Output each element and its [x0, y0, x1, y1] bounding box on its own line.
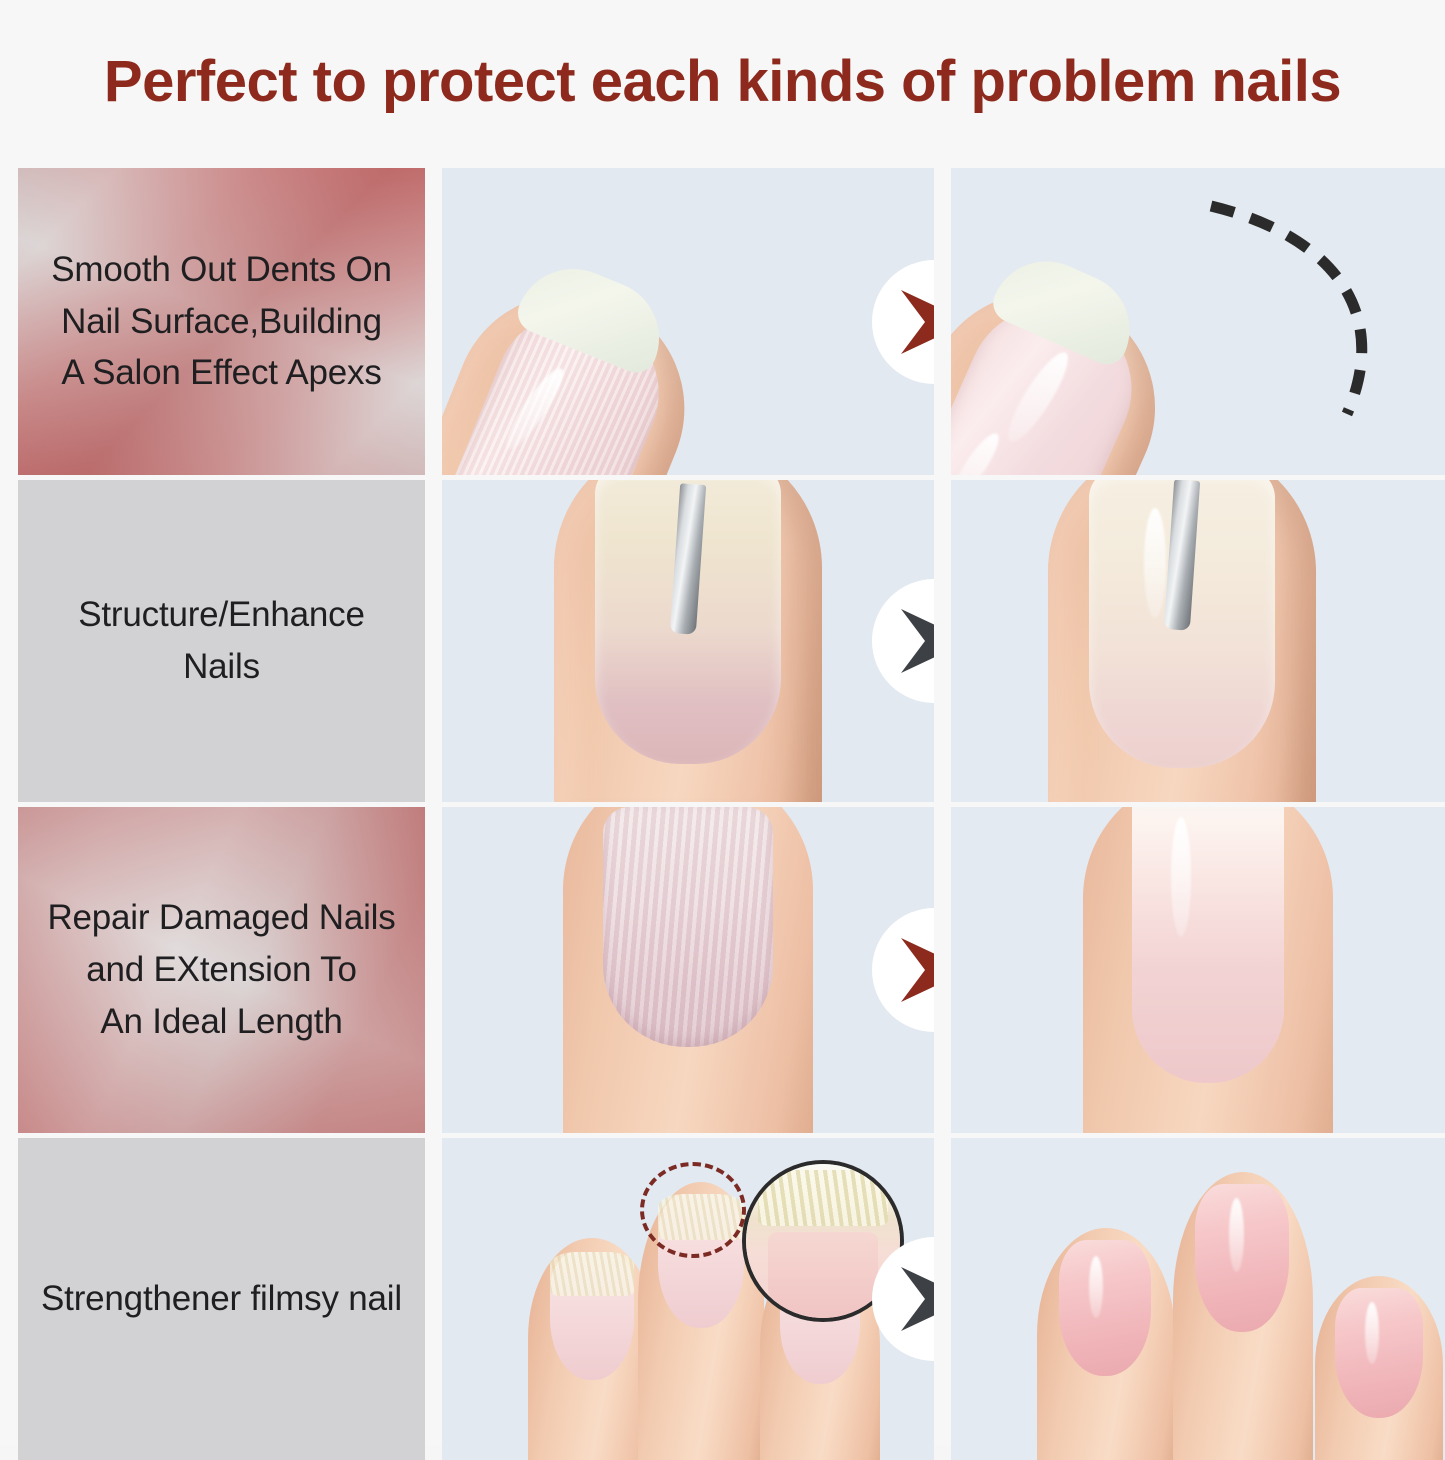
- arrow-right-red-icon: [895, 286, 934, 358]
- after-photo-1: [951, 168, 1445, 475]
- feature-label-cell-4: Strengthener filmsy nail: [18, 1138, 425, 1460]
- nail-plate-damaged: [603, 807, 773, 1047]
- after-photo-2: [951, 480, 1445, 802]
- before-photo-4: [442, 1138, 934, 1460]
- nail-plate-flimsy: [550, 1252, 634, 1380]
- before-photo-2: [442, 480, 934, 802]
- nail-plate-polished: [1059, 1240, 1151, 1376]
- nail-highlight: [1229, 1198, 1244, 1272]
- page-title: Perfect to protect each kinds of problem…: [0, 48, 1445, 115]
- dashed-apex-curve-icon: [1197, 190, 1445, 440]
- scene-before-4: [442, 1138, 934, 1460]
- feature-label-cell-1: Smooth Out Dents On Nail Surface,Buildin…: [18, 168, 425, 475]
- finger-illustration: [563, 807, 813, 1133]
- nail-highlight: [1365, 1302, 1379, 1364]
- dashed-highlight-circle-icon: [640, 1162, 746, 1258]
- feature-label-text-2: Structure/Enhance Nails: [78, 589, 365, 693]
- nail-plate-polished: [1335, 1288, 1423, 1418]
- before-photo-1: [442, 168, 934, 475]
- scene-before-2: [442, 480, 934, 802]
- arrow-right-dark-icon: [895, 605, 934, 677]
- nail-highlight: [1171, 817, 1191, 937]
- finger-body: [528, 1238, 656, 1460]
- nail-highlight: [1144, 508, 1166, 618]
- scene-before-1: [442, 168, 934, 475]
- feature-label-cell-3: Repair Damaged Nails and EXtension To An…: [18, 807, 425, 1133]
- feature-label-text-4: Strengthener filmsy nail: [41, 1273, 402, 1325]
- after-photo-4: [951, 1138, 1445, 1460]
- scene-before-3: [442, 807, 934, 1133]
- nail-plate-extended: [1132, 807, 1284, 1083]
- nail-plate-polished: [1195, 1184, 1289, 1332]
- finger-body: [1315, 1276, 1443, 1460]
- arrow-right-dark-icon: [895, 1263, 934, 1335]
- product-feature-infographic: Perfect to protect each kinds of problem…: [0, 0, 1445, 1445]
- feature-comparison-grid: Smooth Out Dents On Nail Surface,Buildin…: [18, 168, 1445, 1445]
- finger-body: [1037, 1228, 1175, 1460]
- scene-after-3: [951, 807, 1445, 1133]
- finger-illustration: [1083, 807, 1333, 1133]
- before-photo-3: [442, 807, 934, 1133]
- scene-after-2: [951, 480, 1445, 802]
- feature-label-text-3: Repair Damaged Nails and EXtension To An…: [47, 892, 395, 1047]
- scene-after-4: [951, 1138, 1445, 1460]
- feature-label-cell-2: Structure/Enhance Nails: [18, 480, 425, 802]
- feature-label-text-1: Smooth Out Dents On Nail Surface,Buildin…: [51, 244, 392, 399]
- scene-after-1: [951, 168, 1445, 475]
- arrow-right-red-icon: [895, 934, 934, 1006]
- finger-body: [1173, 1172, 1313, 1460]
- after-photo-3: [951, 807, 1445, 1133]
- nail-highlight: [1089, 1256, 1103, 1318]
